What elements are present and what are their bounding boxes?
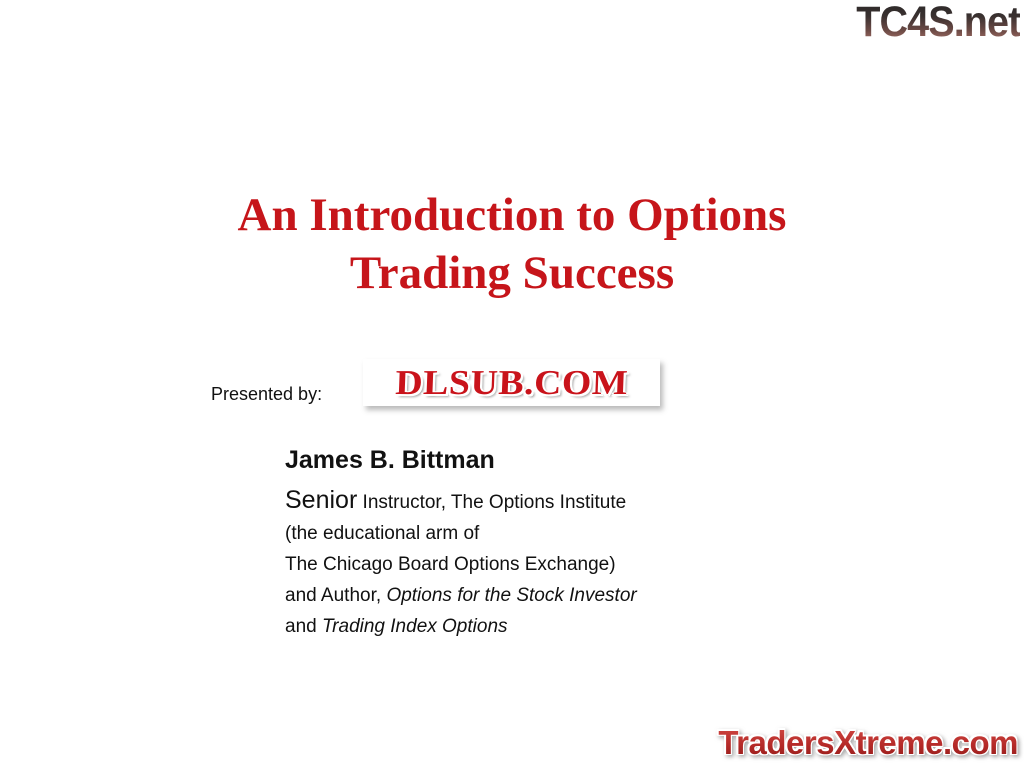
speaker-affiliation-line-1: (the educational arm of [285,518,637,549]
watermark-dlsub: DLSUB.COM [394,365,628,401]
book-title-1: Options for the Stock Investor [386,585,636,606]
speaker-author-line-2: and Trading Index Options [285,611,637,642]
title-line-2: Trading Success [0,244,1024,302]
title-line-1: An Introduction to Options [0,186,1024,244]
speaker-author-line-1: and Author, Options for the Stock Invest… [285,580,637,611]
watermark-tc4s: TC4S.net [856,0,1020,46]
speaker-name: James B. Bittman [285,443,637,477]
watermark-tradersxtreme: TradersXtreme.com [718,723,1018,763]
speaker-bio: James B. Bittman Senior Instructor, The … [285,443,637,642]
book-title-2: Trading Index Options [322,616,508,637]
speaker-role-line: Senior Instructor, The Options Institute [285,485,637,518]
presented-by-label: Presented by: [211,382,322,406]
watermark-dlsub-plate: DLSUB.COM [363,359,660,406]
book2-prefix: and [285,616,317,637]
author-prefix: and Author, [285,585,381,606]
slide-canvas: TC4S.net An Introduction to Options Trad… [0,0,1024,768]
page-title: An Introduction to Options Trading Succe… [0,186,1024,302]
speaker-role-lead: Senior [285,486,357,514]
speaker-affiliation-line-2: The Chicago Board Options Exchange) [285,549,637,580]
presented-by-row: Presented by: [211,382,322,406]
speaker-role-rest: Instructor, The Options Institute [363,492,627,513]
